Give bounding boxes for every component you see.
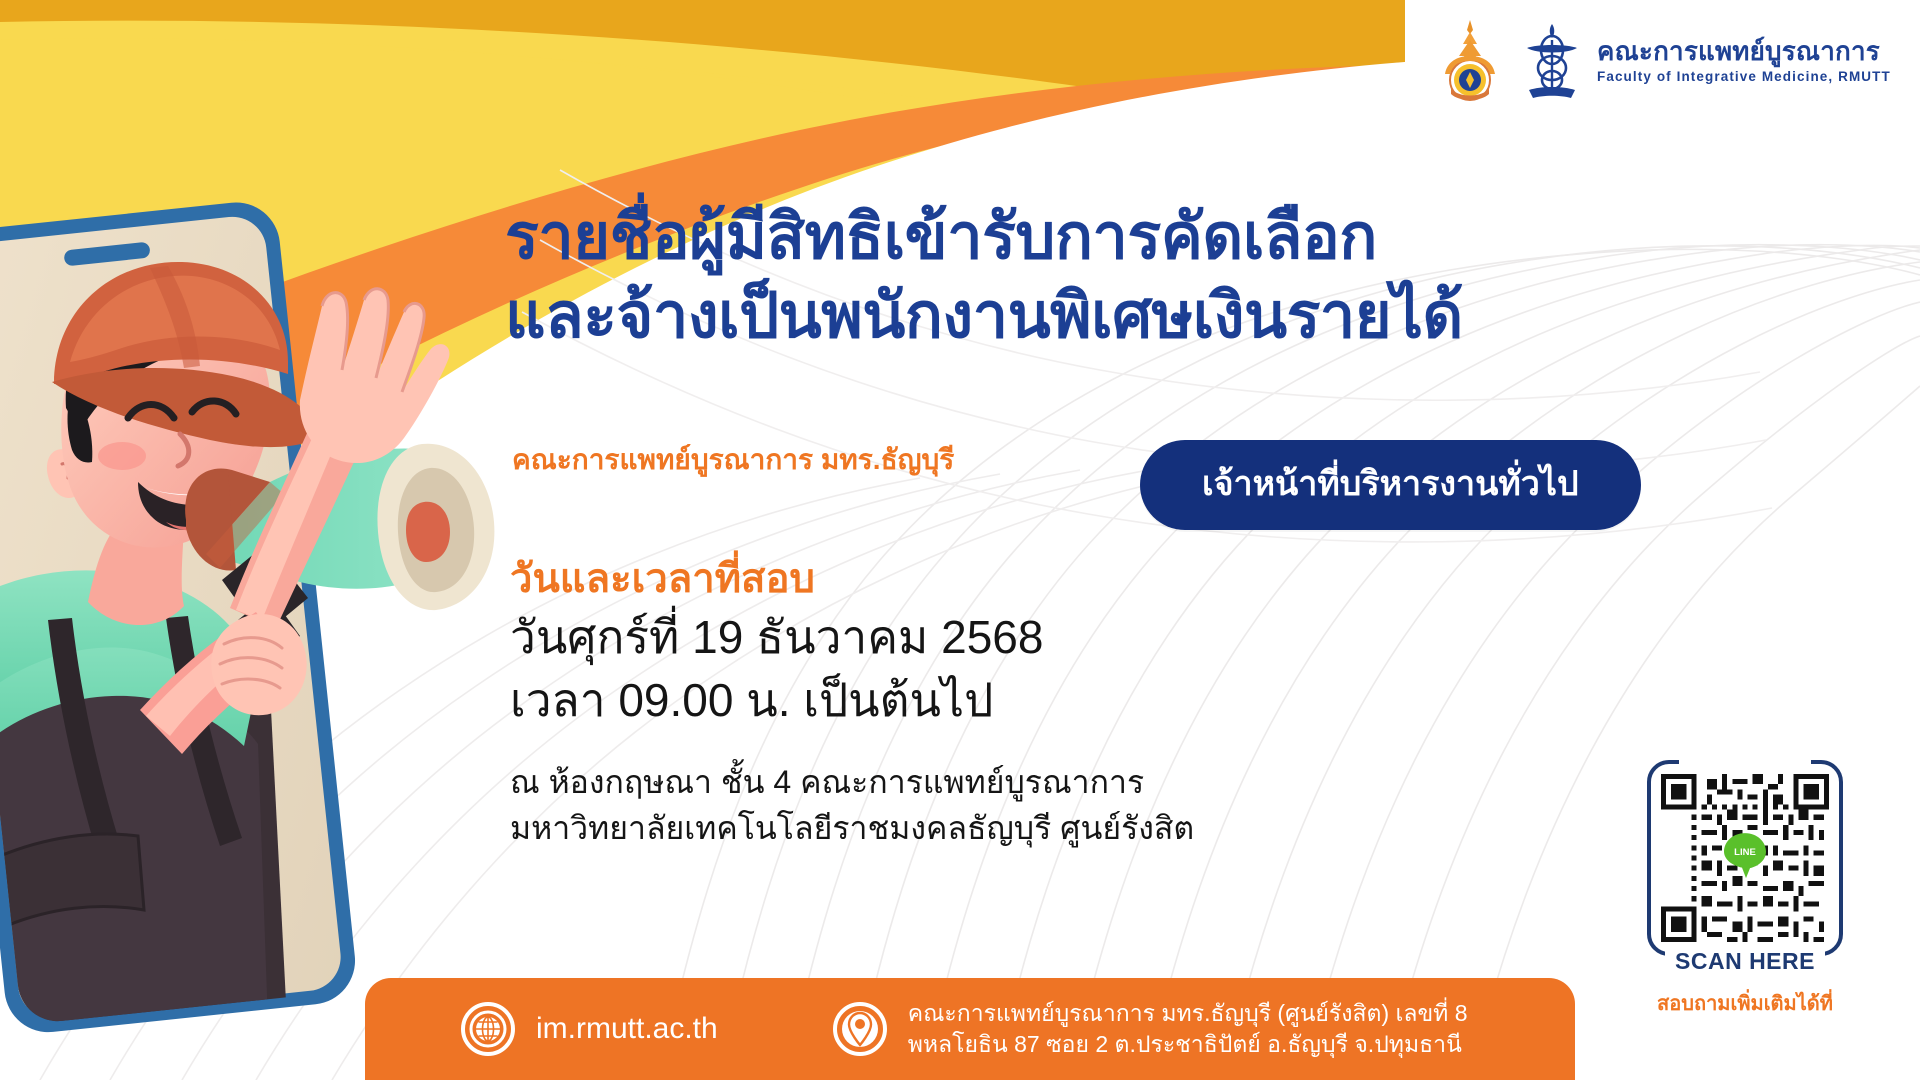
poster-root: คณะการแพทย์บูรณาการ Faculty of Integrati… [0,0,1920,1080]
exam-time: เวลา 09.00 น. เป็นต้นไป [510,669,1194,732]
address-line-1: คณะการแพทย์บูรณาการ มทร.ธัญบุรี (ศูนย์รั… [908,998,1468,1029]
address-contact: คณะการแพทย์บูรณาการ มทร.ธัญบุรี (ศูนย์รั… [832,998,1468,1060]
logo-english-name: Faculty of Integrative Medicine, RMUTT [1597,69,1891,84]
position-badge: เจ้าหน้าที่บริหารงานทั่วไป [1140,440,1641,530]
line-app-icon: LINE [1723,832,1767,880]
faculty-subtitle: คณะการแพทย์บูรณาการ มทร.ธัญบุรี [512,438,954,482]
qr-section: LINE SCAN HERE สอบถามเพิ่มเติมได้ที่ [1640,760,1850,1019]
website-url: im.rmutt.ac.th [536,1014,718,1044]
website-contact[interactable]: im.rmutt.ac.th [460,1001,718,1057]
globe-icon [460,1001,516,1057]
qr-note: สอบถามเพิ่มเติมได้ที่ [1640,987,1850,1019]
page-title: รายชื่อผู้มีสิทธิเข้ารับการคัดเลือก และจ… [505,198,1825,357]
details-heading: วันและเวลาที่สอบ [510,552,1194,606]
exam-details: วันและเวลาที่สอบ วันศุกร์ที่ 19 ธันวาคม … [510,552,1194,852]
headline-line-2: และจ้างเป็นพนักงานพิเศษเงินรายได้ [505,277,1825,356]
headline-line-1: รายชื่อผู้มีสิทธิเข้ารับการคัดเลือก [505,198,1825,277]
faculty-integrative-medicine-mark-icon [1521,22,1583,100]
subtitle-row: คณะการแพทย์บูรณาการ มทร.ธัญบุรี [512,438,954,482]
venue-line-1: ณ ห้องกฤษณา ชั้น 4 คณะการแพทย์บูรณาการ [510,759,1194,805]
man-with-megaphone-illustration [0,150,530,1080]
faculty-logo-panel: คณะการแพทย์บูรณาการ Faculty of Integrati… [1405,0,1920,122]
location-pin-icon [832,1001,888,1057]
qr-card[interactable]: LINE [1647,760,1843,956]
scan-here-label: SCAN HERE [1665,948,1825,975]
venue-line-2: มหาวิทยาลัยเทคโนโลยีราชมงคลธัญบุรี ศูนย์… [510,805,1194,851]
address-text: คณะการแพทย์บูรณาการ มทร.ธัญบุรี (ศูนย์รั… [908,998,1468,1060]
contact-footer-bar: im.rmutt.ac.th คณะการแพทย์บูรณาการ มทร.ธ… [365,978,1575,1080]
address-line-2: พหลโยธิน 87 ซอย 2 ต.ประชาธิปัตย์ อ.ธัญบุ… [908,1029,1468,1060]
line-label: LINE [1734,847,1756,858]
exam-date: วันศุกร์ที่ 19 ธันวาคม 2568 [510,606,1194,669]
logo-thai-name: คณะการแพทย์บูรณาการ [1597,38,1891,65]
rmutt-crest-icon [1433,18,1507,104]
